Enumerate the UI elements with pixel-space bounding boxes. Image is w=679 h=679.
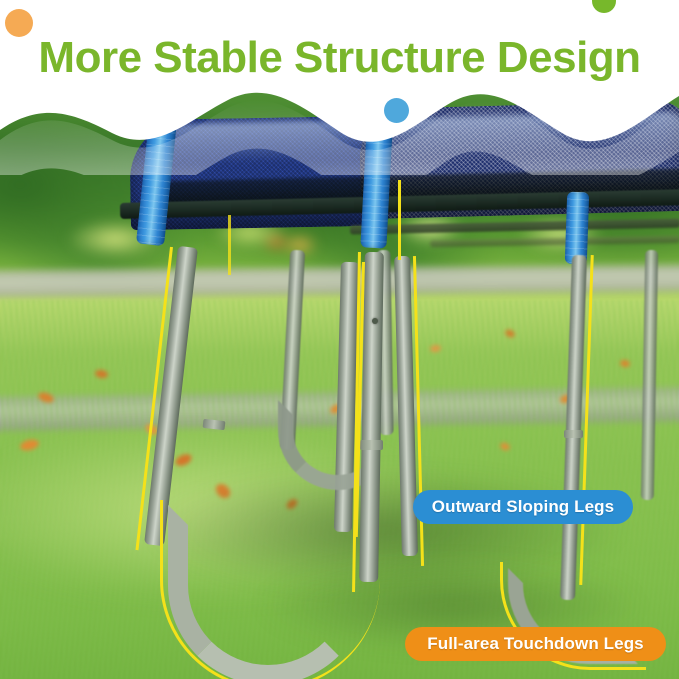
leg-highlight-outline-upper-left xyxy=(228,215,231,275)
leg-highlight-outline-front-left-curve xyxy=(160,500,380,679)
leg-bolt xyxy=(372,318,378,324)
pole-sleeve-right xyxy=(565,192,589,265)
product-feature-poster: More Stable Structure Design Outward Slo… xyxy=(0,0,679,679)
leg-coupler-band xyxy=(564,430,583,438)
trampoline-photo xyxy=(0,0,679,679)
leg-highlight-outline-upper-center xyxy=(398,180,401,260)
full-area-touchdown-legs-badge[interactable]: Full-area Touchdown Legs xyxy=(405,627,666,661)
outward-sloping-legs-badge[interactable]: Outward Sloping Legs xyxy=(413,490,633,524)
leg-coupler-band xyxy=(360,440,383,450)
blue-dot-decoration xyxy=(384,98,409,123)
